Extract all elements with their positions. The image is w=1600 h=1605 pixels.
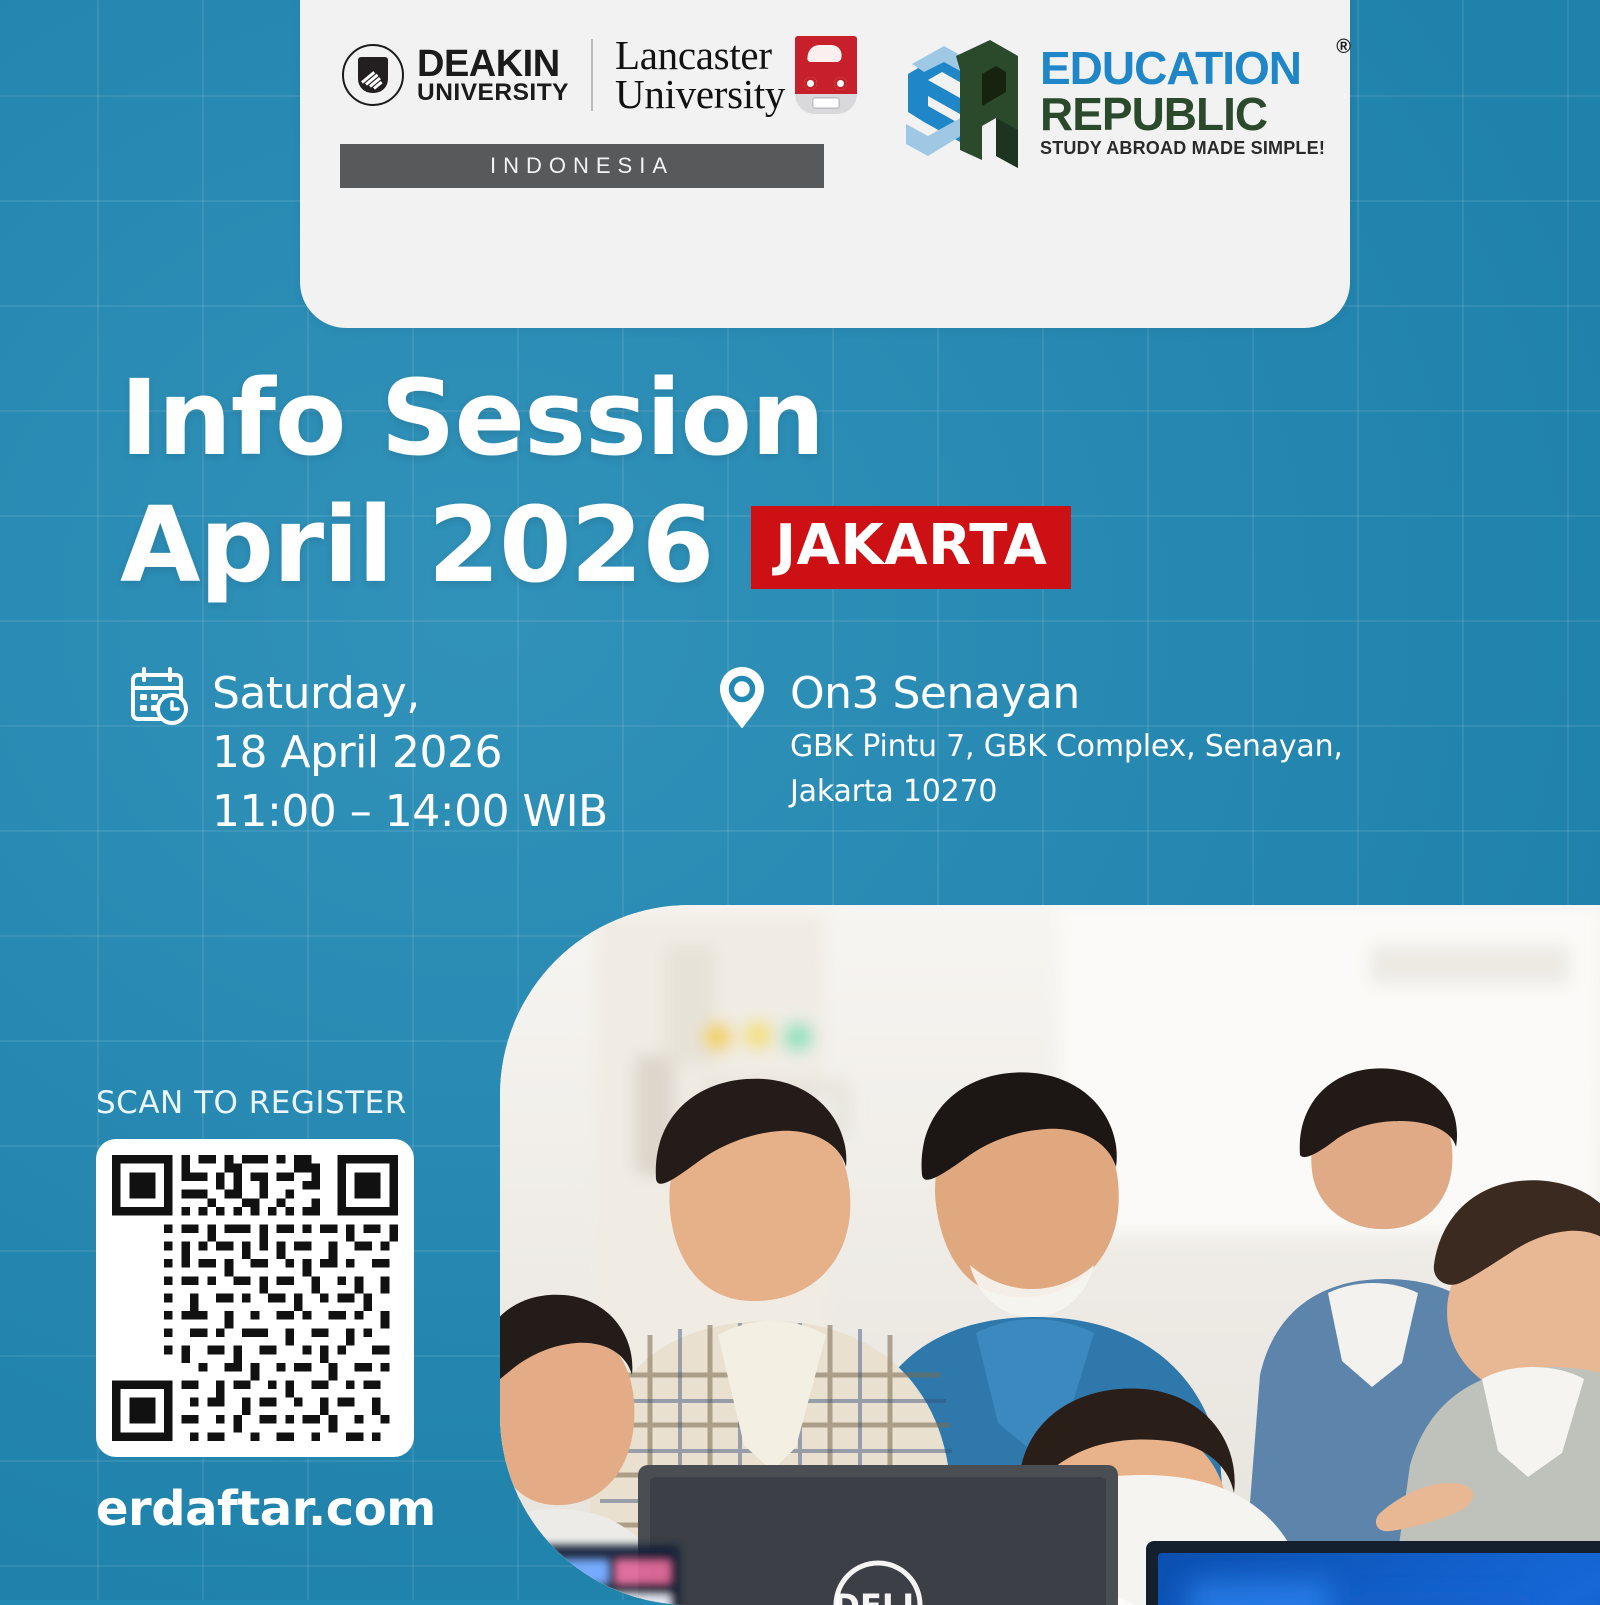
deakin-name-line2: UNIVERSITY	[417, 82, 569, 105]
qr-code-icon[interactable]	[96, 1139, 414, 1457]
event-details: Saturday, 18 April 2026 11:00 – 14:00 WI…	[128, 665, 1508, 842]
deakin-wordmark: DEAKIN UNIVERSITY	[417, 47, 569, 104]
deakin-shield-icon	[342, 44, 404, 106]
students-photo: DELL	[500, 905, 1600, 1605]
partner-logo-card: DEAKIN UNIVERSITY Lancaster University I…	[300, 0, 1350, 328]
city-badge: JAKARTA	[751, 506, 1071, 589]
registered-trademark-icon: ®	[1336, 36, 1351, 59]
headline-line2: April 2026	[120, 482, 713, 609]
education-republic-word2: REPUBLIC	[1040, 91, 1325, 137]
education-republic-logo: ® EDUCATION REPUBLIC STUDY ABROAD MADE S…	[898, 40, 1325, 180]
deakin-name-line1: DEAKIN	[417, 47, 569, 82]
venue-block: On3 Senayan GBK Pintu 7, GBK Complex, Se…	[716, 665, 1476, 814]
venue-address-line2: Jakarta 10270	[790, 769, 1343, 814]
calendar-clock-icon	[128, 665, 190, 842]
education-republic-mark-icon	[898, 40, 1026, 180]
lancaster-name-line1: Lancaster	[615, 36, 785, 75]
university-logos: DEAKIN UNIVERSITY Lancaster University	[342, 36, 857, 115]
site-url[interactable]: erdaftar.com	[96, 1481, 426, 1537]
headline-line1: Info Session	[120, 355, 1320, 482]
location-pin-icon	[716, 665, 768, 814]
date-time-block: Saturday, 18 April 2026 11:00 – 14:00 WI…	[128, 665, 708, 842]
register-block: SCAN TO REGISTER	[96, 1085, 426, 1537]
time-range: 11:00 – 14:00 WIB	[212, 783, 608, 842]
venue-address-line1: GBK Pintu 7, GBK Complex, Senayan,	[790, 724, 1343, 769]
lancaster-wordmark: Lancaster University	[615, 36, 785, 115]
venue-name: On3 Senayan	[790, 665, 1343, 724]
indonesia-country-bar: INDONESIA	[340, 144, 824, 188]
lancaster-crest-icon	[795, 36, 857, 114]
scan-to-register-label: SCAN TO REGISTER	[96, 1085, 426, 1121]
date-line1: Saturday,	[212, 665, 608, 724]
indonesia-label: INDONESIA	[490, 153, 674, 179]
education-republic-tagline: STUDY ABROAD MADE SIMPLE!	[1040, 138, 1325, 159]
lancaster-name-line2: University	[615, 75, 785, 114]
svg-text:DELL: DELL	[833, 1587, 922, 1605]
headline-block: Info Session April 2026 JAKARTA	[120, 355, 1320, 609]
education-republic-word1: EDUCATION	[1040, 46, 1325, 91]
logo-divider	[591, 39, 593, 111]
date-line2: 18 April 2026	[212, 724, 608, 783]
